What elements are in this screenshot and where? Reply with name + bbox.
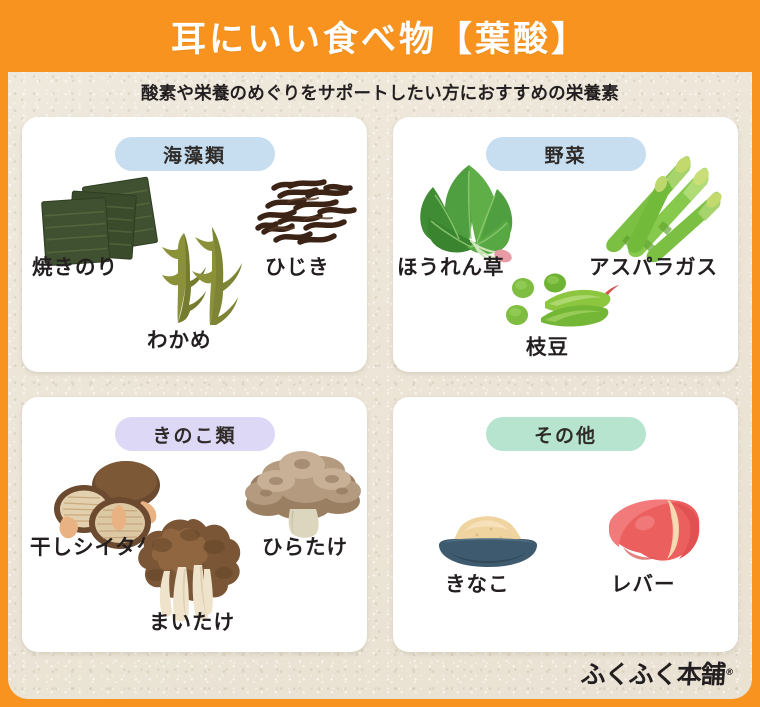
label-asparagus: アスパラガス (589, 250, 718, 280)
wakame-icon (128, 225, 248, 335)
brand-logo: ふくふく本舗® (580, 655, 736, 691)
page-title: 耳にいい食べ物【葉酸】 (171, 11, 589, 62)
category-grid: 海藻類 (22, 117, 738, 652)
label-maitake: まいたけ (149, 605, 235, 635)
label-hijiki: ひじき (265, 250, 330, 280)
label-kinako: きなこ (445, 567, 510, 597)
edamame-icon (501, 272, 621, 336)
liver-icon (605, 495, 705, 573)
label-spinach: ほうれん草 (397, 250, 505, 280)
badge-seaweed: 海藻類 (115, 137, 275, 171)
registered-mark: ® (725, 668, 735, 678)
card-seaweed: 海藻類 (22, 117, 367, 372)
hijiki-icon (250, 172, 360, 254)
hiratake-icon (244, 447, 362, 539)
brand-logo-text: ふくふく本舗 (580, 660, 726, 689)
label-liver: レバー (611, 567, 676, 597)
kinako-icon (433, 507, 543, 571)
badge-mushrooms: きのこ類 (115, 417, 275, 451)
header-banner: 耳にいい食べ物【葉酸】 (0, 0, 760, 72)
subtitle: 酸素や栄養のめぐりをサポートしたい方におすすめの栄養素 (0, 80, 760, 105)
label-hiratake: ひらたけ (262, 530, 348, 560)
card-mushrooms: きのこ類 (22, 397, 367, 652)
infographic-page: 耳にいい食べ物【葉酸】 酸素や栄養のめぐりをサポートしたい方におすすめの栄養素 … (0, 0, 760, 707)
label-nori: 焼きのり (32, 250, 118, 280)
label-edamame: 枝豆 (526, 330, 569, 360)
card-other: その他 きなこ (393, 397, 738, 652)
card-vegetables: 野菜 (393, 117, 738, 372)
badge-other: その他 (486, 417, 646, 451)
label-wakame: わかめ (147, 323, 212, 353)
asparagus-icon (603, 153, 723, 265)
